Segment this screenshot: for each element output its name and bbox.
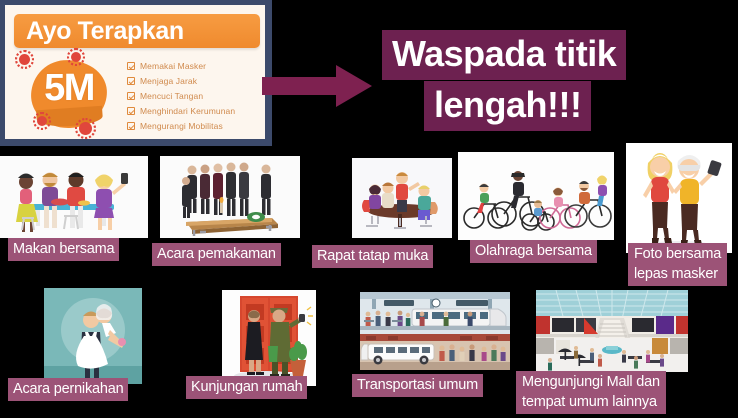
card-caption-foto-bersama-lepas-masker: Foto bersama lepas masker — [628, 243, 727, 286]
poster-body: Ayo Terapkan 5M Memakai Masker Menjaga J… — [5, 5, 265, 139]
virus-icon — [79, 122, 92, 135]
checklist-item: Menghindari Kerumunan — [127, 103, 265, 118]
card-olahraga-bersama — [458, 152, 614, 240]
caption-line: tempat umum lainnya — [521, 392, 658, 412]
card-acara-pemakaman — [160, 156, 300, 238]
wedding-couple-illustration — [44, 288, 142, 384]
people-eating-together-illustration — [0, 156, 148, 238]
card-transportasi-umum — [360, 292, 510, 370]
card-kunjungan-rumah — [222, 290, 316, 386]
virus-icon — [71, 52, 81, 62]
card-caption-acara-pernikahan: Acara pernikahan — [8, 378, 128, 401]
card-caption-olahraga-bersama: Olahraga bersama — [470, 240, 597, 263]
checklist-item: Mengurangi Mobilitas — [127, 118, 265, 133]
card-rapat-tatap-muka — [352, 158, 452, 238]
card-caption-kunjungan-rumah: Kunjungan rumah — [186, 376, 307, 399]
checklist-item: Memakai Masker — [127, 58, 265, 73]
card-acara-pernikahan — [44, 288, 142, 384]
arrow-right-icon — [262, 62, 374, 110]
checkbox-icon — [127, 107, 135, 115]
card-caption-rapat-tatap-muka: Rapat tatap muka — [312, 245, 433, 268]
home-visit-doorstep-illustration — [222, 290, 316, 386]
caption-line: lepas masker — [633, 264, 719, 284]
funeral-ceremony-illustration — [160, 156, 300, 238]
checklist-item: Menjaga Jarak — [127, 73, 265, 88]
card-caption-transportasi-umum: Transportasi umum — [352, 374, 483, 397]
checklist-item-label: Menjaga Jarak — [140, 76, 197, 86]
slide-canvas: Ayo Terapkan 5M Memakai Masker Menjaga J… — [0, 0, 738, 418]
page-title-line-1: Waspada titik — [382, 30, 626, 80]
poster-checklist: Memakai Masker Menjaga Jarak Mencuci Tan… — [127, 58, 265, 133]
checklist-item-label: Mencuci Tangan — [140, 91, 203, 101]
card-caption-acara-pemakaman: Acara pemakaman — [152, 243, 281, 266]
shopping-mall-interior-illustration — [536, 290, 688, 372]
caption-line: Mengunjungi Mall dan — [521, 372, 661, 392]
virus-icon — [19, 54, 30, 65]
card-caption-mengunjungi-mall: Mengunjungi Mall dan tempat umum lainnya — [516, 371, 666, 414]
page-title: Waspada titik lengah!!! — [382, 30, 712, 131]
two-women-selfie-no-mask-illustration — [626, 143, 732, 253]
checkbox-icon — [127, 62, 135, 70]
poster-badge-text: 5M — [17, 66, 121, 110]
card-foto-bersama-lepas-masker — [626, 143, 732, 253]
checklist-item-label: Memakai Masker — [140, 61, 206, 71]
in-person-meeting-illustration — [352, 158, 452, 238]
train-station-and-bus-illustration — [360, 292, 510, 370]
checkbox-icon — [127, 92, 135, 100]
checkbox-icon — [127, 77, 135, 85]
poster-headline-banner: Ayo Terapkan — [14, 14, 260, 48]
checkbox-icon — [127, 122, 135, 130]
poster-5m: Ayo Terapkan 5M Memakai Masker Menjaga J… — [0, 0, 272, 146]
card-caption-makan-bersama: Makan bersama — [8, 238, 119, 261]
checklist-item-label: Mengurangi Mobilitas — [140, 121, 223, 131]
caption-line: Foto bersama — [633, 244, 722, 264]
card-mengunjungi-mall — [536, 290, 688, 372]
virus-icon — [37, 116, 47, 126]
checklist-item: Mencuci Tangan — [127, 88, 265, 103]
checklist-item-label: Menghindari Kerumunan — [140, 106, 235, 116]
page-title-line-2: lengah!!! — [424, 81, 591, 131]
poster-headline-text: Ayo Terapkan — [14, 14, 260, 48]
poster-badge-group: 5M — [17, 52, 121, 138]
card-makan-bersama — [0, 156, 148, 238]
group-cycling-illustration — [458, 152, 614, 240]
